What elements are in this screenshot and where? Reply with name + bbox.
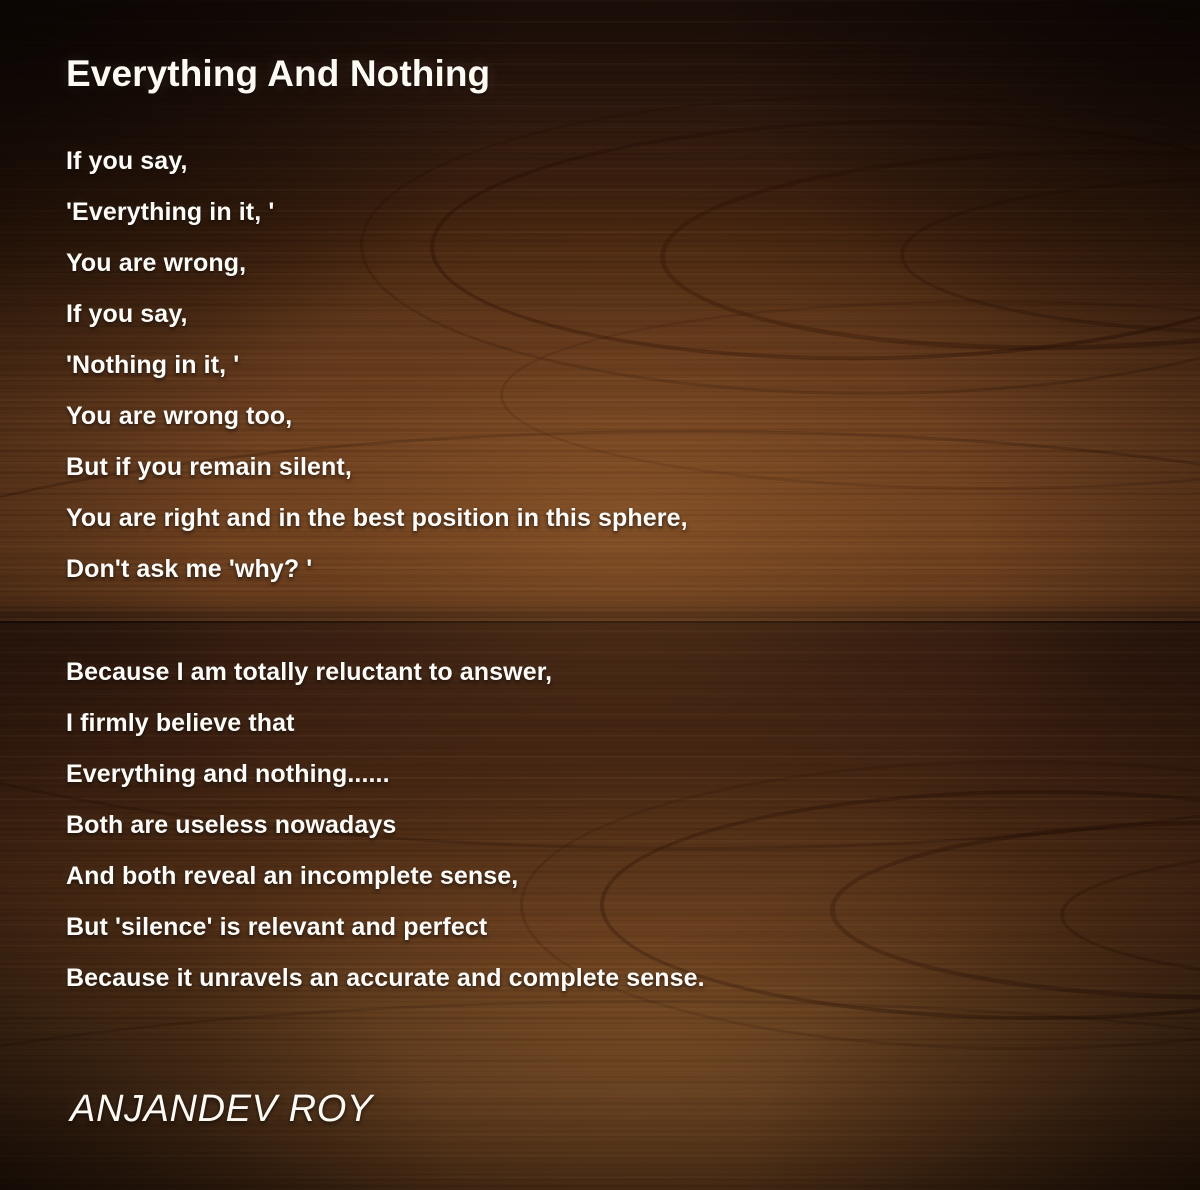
poem-stanza: If you say, 'Everything in it, ' You are…	[66, 136, 1140, 595]
poem-line: And both reveal an incomplete sense,	[66, 851, 1140, 902]
poem-title: Everything And Nothing	[66, 52, 1140, 96]
poem-line: Because I am totally reluctant to answer…	[66, 647, 1140, 698]
poem-author: ANJANDEV ROY	[70, 1086, 373, 1132]
poem-line: But 'silence' is relevant and perfect	[66, 902, 1140, 953]
poem-line: You are wrong,	[66, 238, 1140, 289]
poem-line: Don't ask me 'why? '	[66, 544, 1140, 595]
poem-line: If you say,	[66, 136, 1140, 187]
poem-line: If you say,	[66, 289, 1140, 340]
poem-line: But if you remain silent,	[66, 442, 1140, 493]
poem-line: You are right and in the best position i…	[66, 493, 1140, 544]
poem-line: Because it unravels an accurate and comp…	[66, 953, 1140, 1004]
poem-line: I firmly believe that	[66, 698, 1140, 749]
poem-stanza: Because I am totally reluctant to answer…	[66, 647, 1140, 1004]
poem-line: 'Everything in it, '	[66, 187, 1140, 238]
poem-line: 'Nothing in it, '	[66, 340, 1140, 391]
poem-image-card: Everything And Nothing If you say, 'Ever…	[0, 0, 1200, 1190]
poem-line: You are wrong too,	[66, 391, 1140, 442]
poem-line: Both are useless nowadays	[66, 800, 1140, 851]
poem-content: Everything And Nothing If you say, 'Ever…	[0, 0, 1200, 1190]
poem-line: Everything and nothing......	[66, 749, 1140, 800]
poem-body: If you say, 'Everything in it, ' You are…	[66, 136, 1140, 1004]
